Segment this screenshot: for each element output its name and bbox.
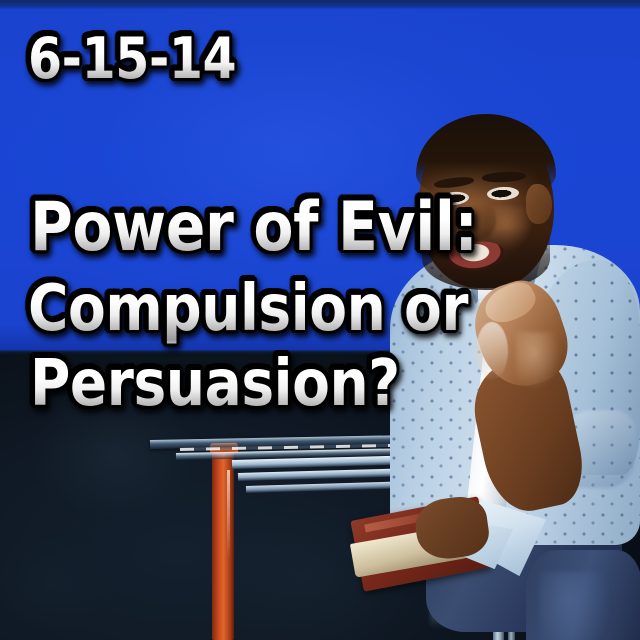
hand-knuckles — [516, 332, 560, 390]
video-thumbnail: 6-15-14 Power of Evil: Compulsion or Per… — [0, 0, 640, 640]
table-leg-highlight — [227, 470, 230, 558]
title-line-3: Persuasion? — [30, 347, 400, 421]
title-line-2: Compulsion or — [28, 272, 468, 346]
thumb — [476, 322, 508, 380]
backdrop-top-shadow-band — [0, 0, 640, 7]
date-badge: 6-15-14 — [28, 26, 236, 92]
knee-highlight — [540, 572, 610, 640]
table-leg-orange — [212, 448, 234, 640]
title-line-1: Power of Evil: — [30, 188, 477, 267]
